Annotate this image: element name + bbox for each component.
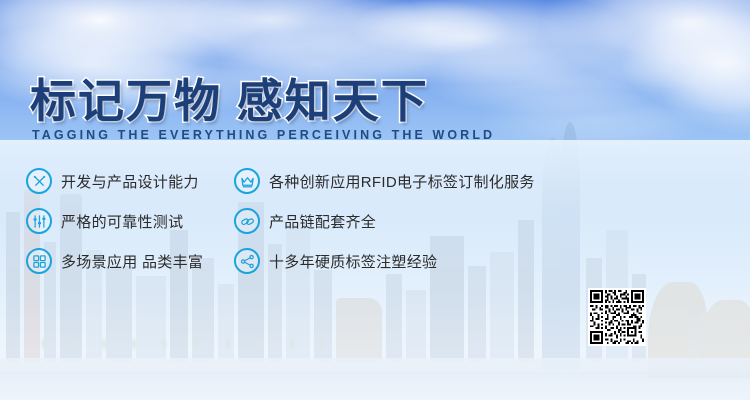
feature-row: 严格的可靠性测试 产品链配套齐全	[26, 208, 626, 234]
banner-content: 标记万物 感知天下 TAGGING THE EVERYTHING PERCEIV…	[0, 0, 750, 400]
feature-label: 开发与产品设计能力	[61, 171, 199, 192]
page-title: 标记万物 感知天下	[30, 76, 429, 126]
feature-list: 开发与产品设计能力 各种创新应用RFID电子标签订制化服务	[26, 168, 626, 288]
feature-item-complete-product-chain[interactable]: 产品链配套齐全	[234, 208, 626, 234]
feature-item-development[interactable]: 开发与产品设计能力	[26, 168, 234, 194]
feature-row: 多场景应用 品类丰富 十多年硬质标签注塑经验	[26, 248, 626, 274]
feature-item-reliability-testing[interactable]: 严格的可靠性测试	[26, 208, 234, 234]
grid-four-icon	[26, 248, 52, 274]
feature-label: 十多年硬质标签注塑经验	[269, 251, 437, 272]
feature-label: 各种创新应用RFID电子标签订制化服务	[269, 171, 535, 192]
equalizer-sliders-icon	[26, 208, 52, 234]
feature-item-rfid-custom-service[interactable]: 各种创新应用RFID电子标签订制化服务	[234, 168, 626, 194]
crown-icon	[234, 168, 260, 194]
qr-code-container[interactable]	[588, 288, 646, 346]
crossed-tools-icon	[26, 168, 52, 194]
feature-item-multi-scenario[interactable]: 多场景应用 品类丰富	[26, 248, 234, 274]
share-nodes-icon	[234, 248, 260, 274]
feature-row: 开发与产品设计能力 各种创新应用RFID电子标签订制化服务	[26, 168, 626, 194]
page-subtitle: TAGGING THE EVERYTHING PERCEIVING THE WO…	[32, 128, 495, 142]
link-chain-icon	[234, 208, 260, 234]
promo-banner: 标记万物 感知天下 TAGGING THE EVERYTHING PERCEIV…	[0, 0, 750, 400]
feature-label: 严格的可靠性测试	[61, 211, 183, 232]
feature-item-injection-molding-experience[interactable]: 十多年硬质标签注塑经验	[234, 248, 626, 274]
qr-code-icon[interactable]	[590, 290, 644, 344]
feature-label: 产品链配套齐全	[269, 211, 376, 232]
feature-label: 多场景应用 品类丰富	[61, 251, 203, 272]
